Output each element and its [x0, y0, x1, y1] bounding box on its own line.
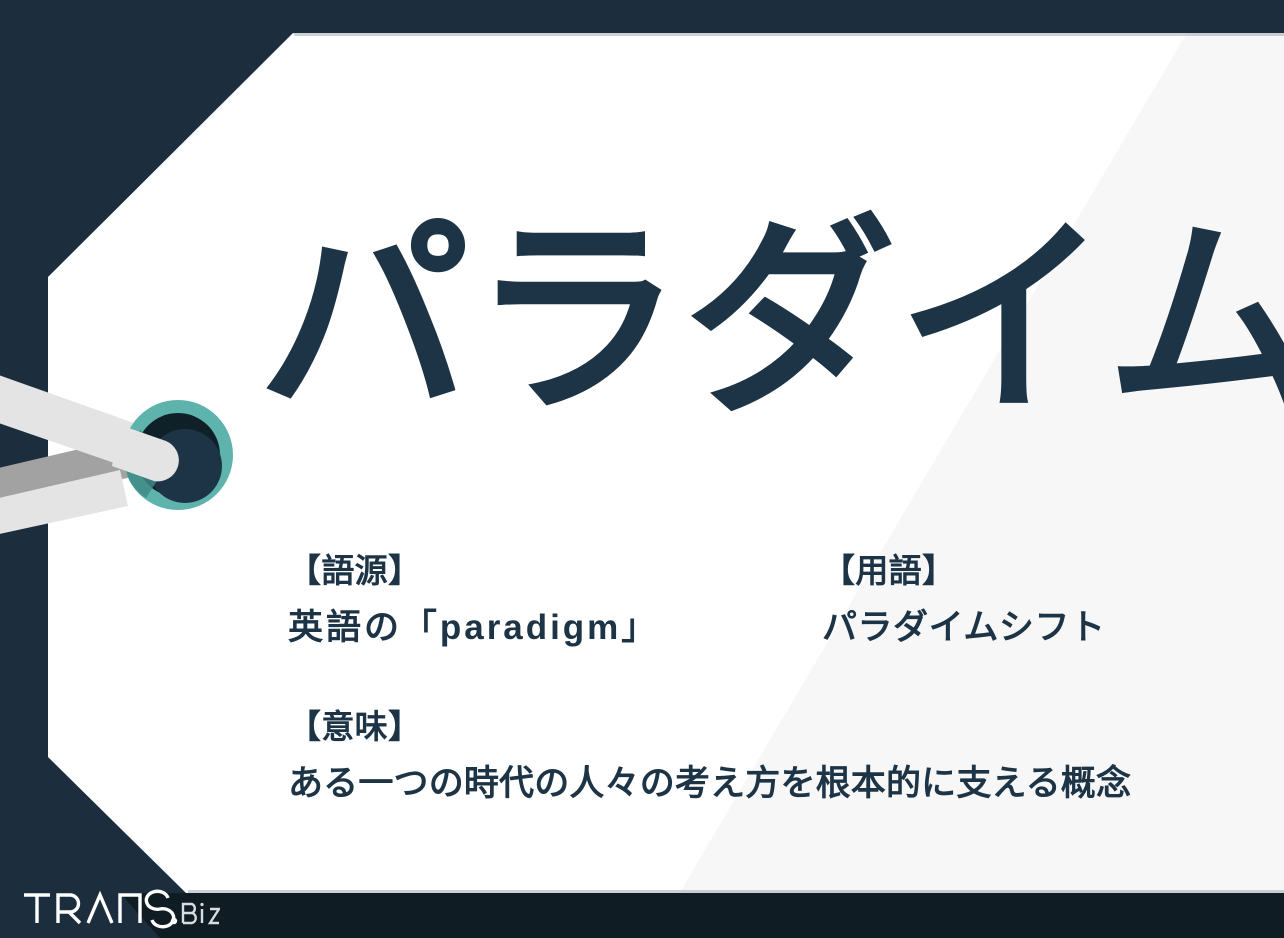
- field-origin-value: 英語の「paradigm」: [288, 603, 659, 654]
- vocabulary-card: パラダイム 【語源】 英語の「paradigm」 【用語】 パラダイムシフト 【…: [0, 0, 1284, 938]
- field-meaning-label: 【意味】: [288, 704, 1131, 751]
- logo-i-dot: [200, 903, 203, 906]
- tag-shadow-body: [120, 893, 1284, 938]
- field-term-label: 【用語】: [822, 548, 1106, 595]
- logo-dot: [171, 918, 177, 924]
- field-origin-label: 【語源】: [288, 548, 659, 595]
- field-term: 【用語】 パラダイムシフト: [822, 548, 1106, 654]
- brand-logo[interactable]: TRANS.Biz: [22, 889, 220, 929]
- trans-biz-logo-icon: [22, 889, 220, 929]
- field-term-value: パラダイムシフト: [822, 603, 1106, 654]
- field-meaning: 【意味】 ある一つの時代の人々の考え方を根本的に支える概念: [288, 704, 1131, 810]
- tag-top-hairline: [293, 33, 1284, 36]
- field-origin: 【語源】 英語の「paradigm」: [288, 548, 659, 654]
- tag-bottom-hairline: [188, 890, 1284, 893]
- field-meaning-value: ある一つの時代の人々の考え方を根本的に支える概念: [288, 759, 1131, 810]
- page-title: パラダイム: [258, 214, 1284, 426]
